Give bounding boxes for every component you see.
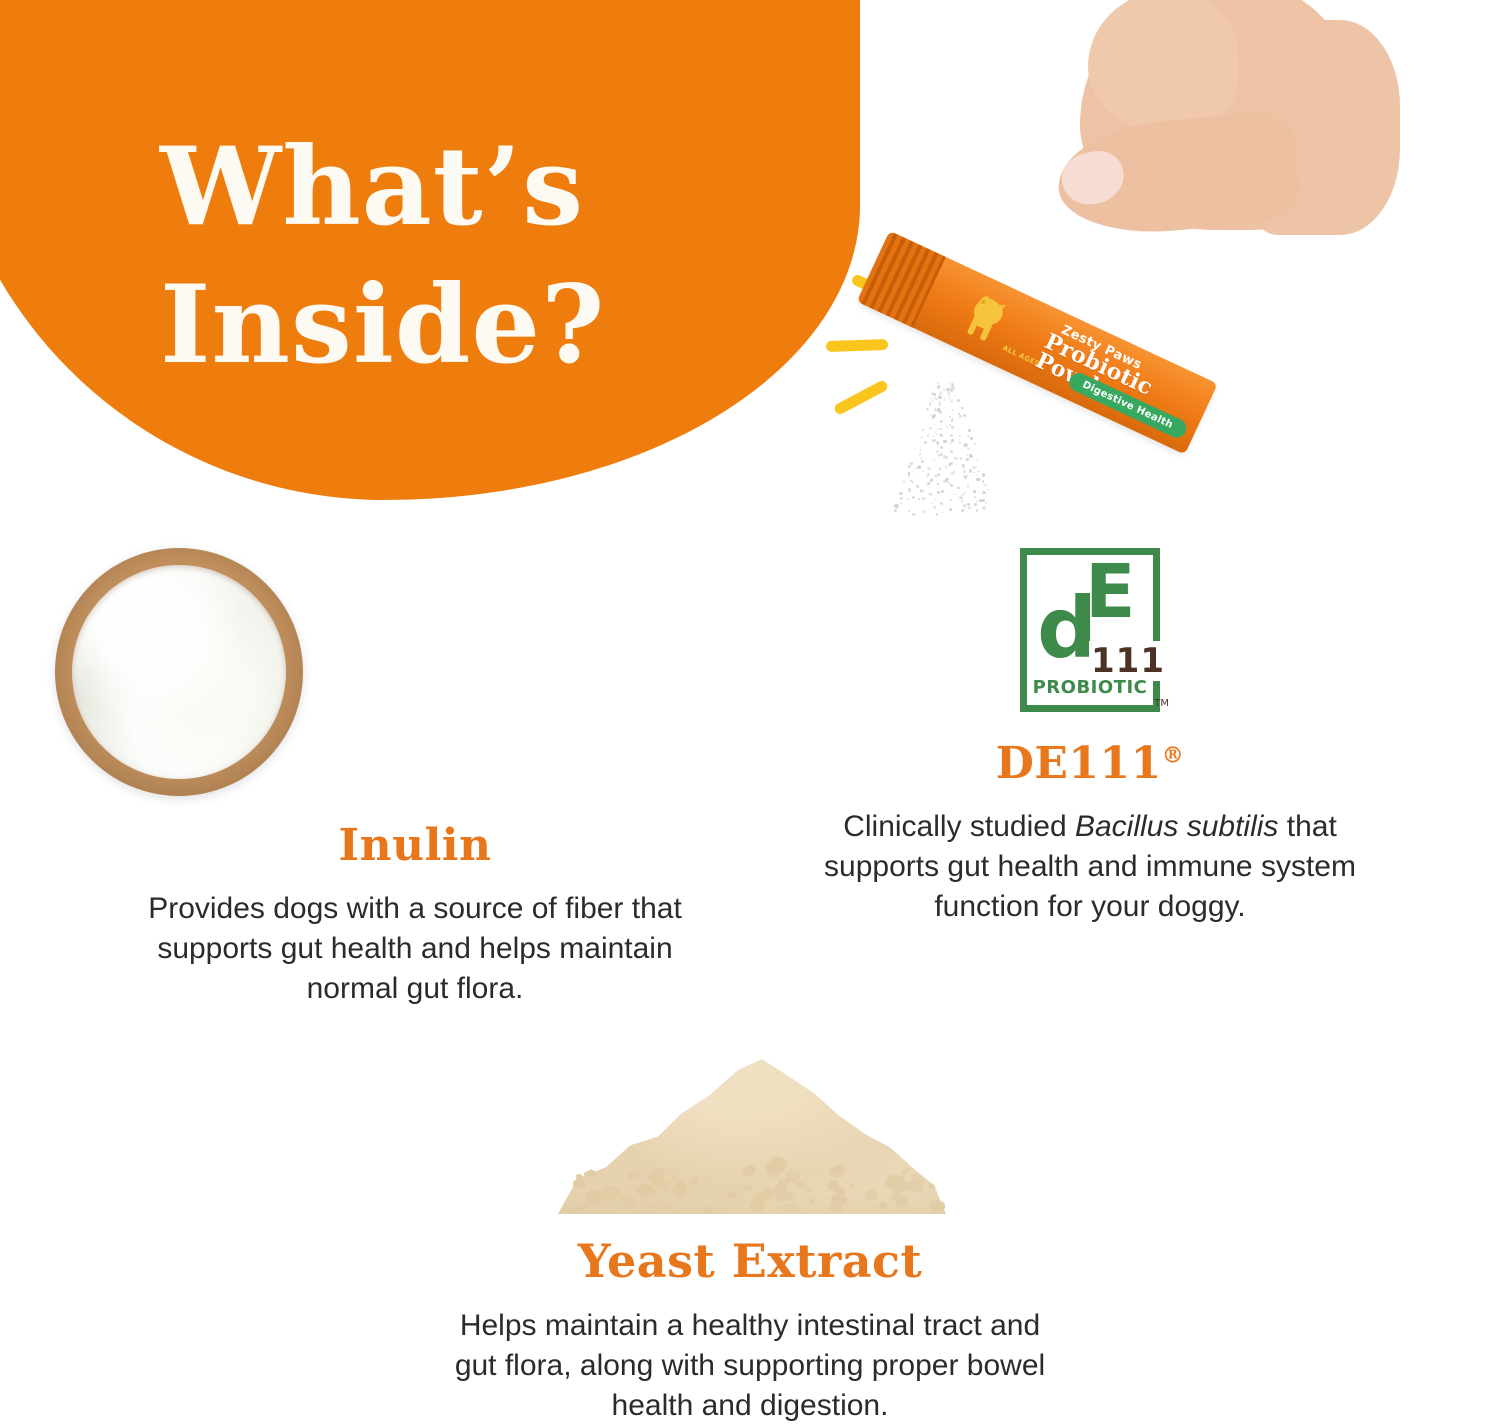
- de111-logo-number: 111: [1089, 641, 1165, 681]
- de111-desc-part-1: Clinically studied: [843, 810, 1075, 843]
- ingredient-title-de111: DE111®: [735, 738, 1445, 789]
- de111-logo-image: E d 111 PROBIOTIC TM: [1020, 548, 1160, 712]
- pouring-powder-stream: [890, 382, 1020, 517]
- registered-trademark-icon: ®: [1162, 742, 1185, 768]
- pack-torn-edge: [857, 231, 946, 328]
- inulin-bowl-image: [55, 548, 775, 796]
- ingredient-description-inulin: Provides dogs with a source of fiber tha…: [135, 889, 695, 1010]
- de111-desc-species-name: Bacillus subtilis: [1075, 810, 1278, 843]
- knuckles: [1088, 0, 1238, 130]
- page-title: What’s Inside?: [160, 118, 780, 394]
- dog-silhouette-icon: [950, 283, 1024, 357]
- wooden-bowl: [55, 548, 303, 796]
- ingredient-title-inulin: Inulin: [55, 820, 775, 871]
- ingredient-description-de111: Clinically studied Bacillus subtilis tha…: [800, 807, 1380, 928]
- ingredient-card-inulin: Inulin Provides dogs with a source of fi…: [55, 548, 775, 1010]
- de111-logo-probiotic-word: PROBIOTIC: [1027, 677, 1153, 698]
- sparkle-dash-2: [826, 339, 888, 352]
- infographic-page: What’s Inside? ALL AGES Zesty Paws Probi…: [0, 0, 1500, 1425]
- de111-logo-box: E d 111 PROBIOTIC TM: [1020, 548, 1160, 712]
- ingredient-title-de111-text: DE111: [996, 738, 1162, 789]
- ingredient-card-yeast-extract: Yeast Extract Helps maintain a healthy i…: [385, 1018, 1115, 1425]
- page-title-line-1: What’s: [160, 118, 780, 256]
- ingredients-row-top: Inulin Provides dogs with a source of fi…: [0, 548, 1500, 988]
- ingredient-title-yeast-extract: Yeast Extract: [385, 1234, 1115, 1288]
- de111-logo-trademark: TM: [1154, 698, 1169, 709]
- hand-holding-pack: [1040, 0, 1370, 290]
- product-hero-image: ALL AGES Zesty Paws Probiotic Powder Dig…: [790, 0, 1500, 540]
- yeast-extract-powder-image: [385, 1018, 1115, 1214]
- powder-pile: [550, 1018, 950, 1214]
- ingredient-description-yeast-extract: Helps maintain a healthy intestinal trac…: [445, 1306, 1055, 1425]
- ingredient-card-de111: E d 111 PROBIOTIC TM DE111® Clinically s…: [735, 548, 1445, 928]
- sparkle-dash-3: [833, 379, 889, 416]
- page-title-line-2: Inside?: [160, 256, 780, 394]
